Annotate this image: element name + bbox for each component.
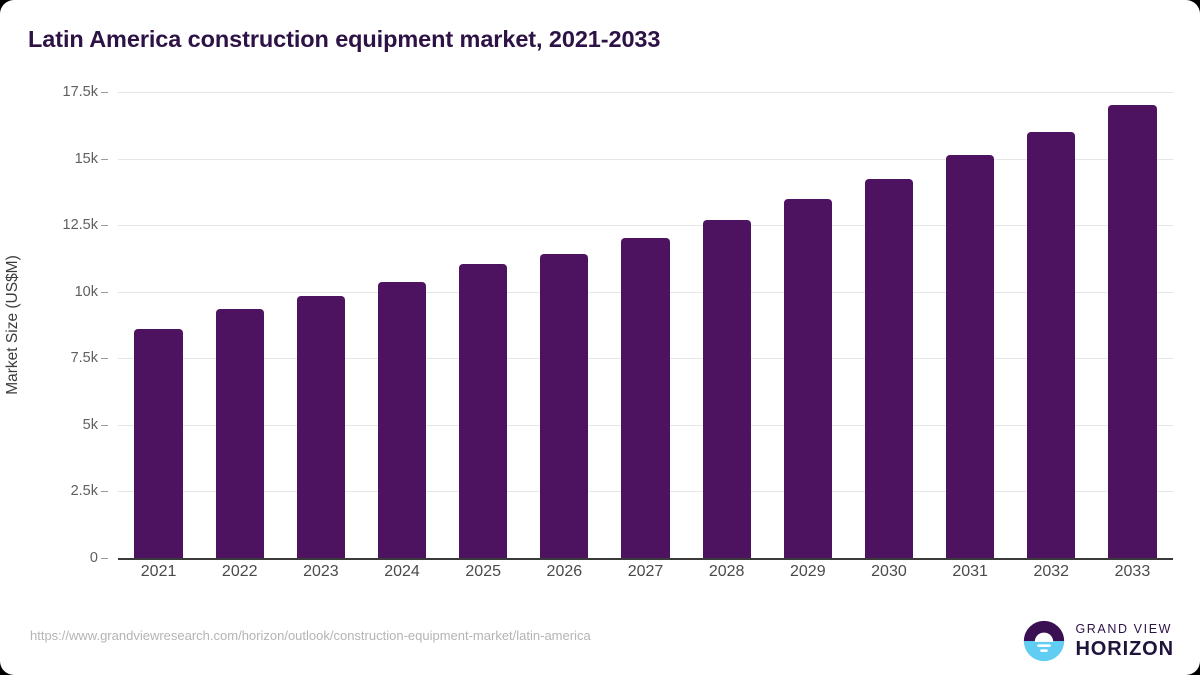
brand-name-line2: HORIZON bbox=[1075, 639, 1174, 659]
bar[interactable] bbox=[1027, 132, 1075, 558]
bar[interactable] bbox=[297, 296, 345, 558]
x-tick-label: 2025 bbox=[465, 563, 501, 581]
y-tick-mark bbox=[101, 425, 108, 426]
x-tick-label: 2024 bbox=[384, 563, 420, 581]
y-tick-label: 10k bbox=[75, 284, 98, 300]
y-tick-label: 17.5k bbox=[63, 84, 98, 100]
x-tick-label: 2022 bbox=[222, 563, 258, 581]
chart-page: Latin America construction equipment mar… bbox=[0, 0, 1200, 675]
y-tick-label: 0 bbox=[90, 550, 98, 566]
y-tick-label: 5k bbox=[83, 417, 98, 433]
grand-view-horizon-logo-icon bbox=[1023, 620, 1065, 662]
y-tick-mark bbox=[101, 159, 108, 160]
bar[interactable] bbox=[1108, 105, 1156, 558]
y-tick-mark bbox=[101, 225, 108, 226]
bar[interactable] bbox=[540, 254, 588, 558]
x-tick-label: 2021 bbox=[141, 563, 177, 581]
brand-logo: GRAND VIEW HORIZON bbox=[1023, 620, 1174, 662]
x-tick-label: 2027 bbox=[628, 563, 664, 581]
bar[interactable] bbox=[621, 238, 669, 558]
bar-series bbox=[118, 92, 1173, 558]
y-tick-mark bbox=[101, 92, 108, 93]
bar[interactable] bbox=[378, 282, 426, 558]
y-tick-label: 12.5k bbox=[63, 217, 98, 233]
bar[interactable] bbox=[459, 264, 507, 558]
plot-area bbox=[118, 92, 1173, 558]
y-tick-mark bbox=[101, 491, 108, 492]
brand-name-line1: GRAND VIEW bbox=[1075, 623, 1174, 636]
bar[interactable] bbox=[134, 329, 182, 558]
x-tick-label: 2029 bbox=[790, 563, 826, 581]
bar[interactable] bbox=[784, 199, 832, 558]
x-tick-label: 2023 bbox=[303, 563, 339, 581]
source-url[interactable]: https://www.grandviewresearch.com/horizo… bbox=[30, 628, 591, 643]
bar[interactable] bbox=[865, 179, 913, 558]
y-tick-label: 7.5k bbox=[71, 350, 98, 366]
brand-logo-text: GRAND VIEW HORIZON bbox=[1075, 623, 1174, 659]
bar[interactable] bbox=[946, 155, 994, 558]
x-tick-label: 2030 bbox=[871, 563, 907, 581]
y-tick-mark bbox=[101, 558, 108, 559]
y-axis-tick-group: 02.5k5k7.5k10k12.5k15k17.5k bbox=[0, 92, 108, 558]
x-axis-tick-group: 2021202220232024202520262027202820292030… bbox=[118, 563, 1173, 591]
y-tick-mark bbox=[101, 292, 108, 293]
x-tick-label: 2026 bbox=[547, 563, 583, 581]
bar[interactable] bbox=[703, 220, 751, 558]
page-title: Latin America construction equipment mar… bbox=[28, 26, 660, 53]
y-tick-mark bbox=[101, 358, 108, 359]
y-tick-label: 15k bbox=[75, 151, 98, 167]
x-tick-label: 2033 bbox=[1115, 563, 1151, 581]
x-tick-label: 2028 bbox=[709, 563, 745, 581]
bar[interactable] bbox=[216, 309, 264, 558]
x-axis-line bbox=[118, 558, 1173, 560]
y-tick-label: 2.5k bbox=[71, 483, 98, 499]
x-tick-label: 2032 bbox=[1033, 563, 1069, 581]
x-tick-label: 2031 bbox=[952, 563, 988, 581]
